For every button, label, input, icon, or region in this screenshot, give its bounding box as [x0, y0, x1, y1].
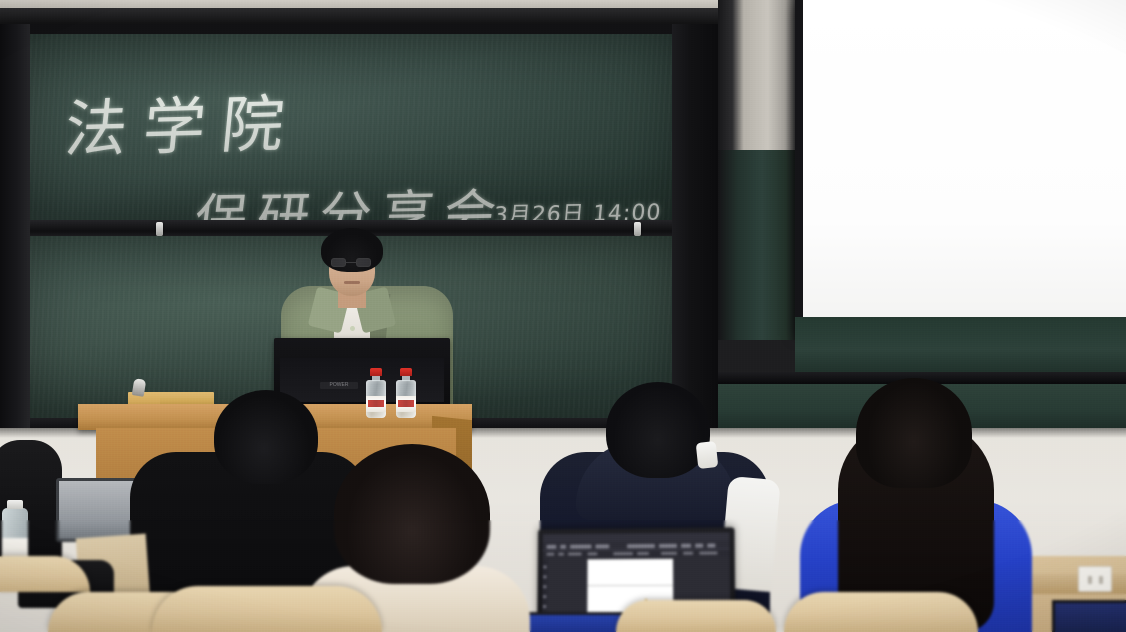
chalk-text-line-1: 法学院 — [61, 73, 304, 169]
audience-person-cream-coat-head — [334, 444, 490, 584]
chalkboard-center-post — [672, 10, 718, 450]
projection-screen-surface — [803, 0, 1126, 317]
monitor-foot-label: POWER — [320, 382, 358, 389]
chair-back — [152, 586, 382, 632]
chair-back — [616, 600, 776, 632]
water-bottle — [366, 368, 386, 418]
chalkboard-left-post — [0, 10, 30, 445]
chalkboard-upper-panel: 法学院 保研分享会 3月26日 14:00 — [26, 34, 678, 220]
presenter-mouth — [344, 281, 360, 284]
face-mask-icon — [696, 441, 719, 469]
board-clip-icon — [156, 222, 163, 236]
audience-person-navy-hoodie-head — [606, 382, 710, 478]
chalkboard-right-strip — [795, 317, 1126, 377]
audience-person-blue-top-head — [856, 378, 972, 488]
water-bottle — [396, 368, 416, 418]
wall-gap-lower — [718, 150, 798, 340]
lecture-hall-photo: 法学院 保研分享会 3月26日 14:00 北京师 — [0, 0, 1126, 632]
board-clip-icon — [634, 222, 641, 236]
chair-back — [784, 592, 978, 632]
wall-outlet-icon — [1078, 566, 1112, 592]
glasses-icon — [331, 258, 373, 267]
presenter-button — [350, 326, 355, 331]
podium-monitor-screen — [280, 358, 444, 402]
chalkboard-top-frame — [0, 8, 718, 24]
editor-ribbon-row-2 — [543, 549, 730, 557]
audience-person-black-jacket-head — [214, 390, 318, 484]
laptop-far-right[interactable] — [1052, 600, 1126, 632]
